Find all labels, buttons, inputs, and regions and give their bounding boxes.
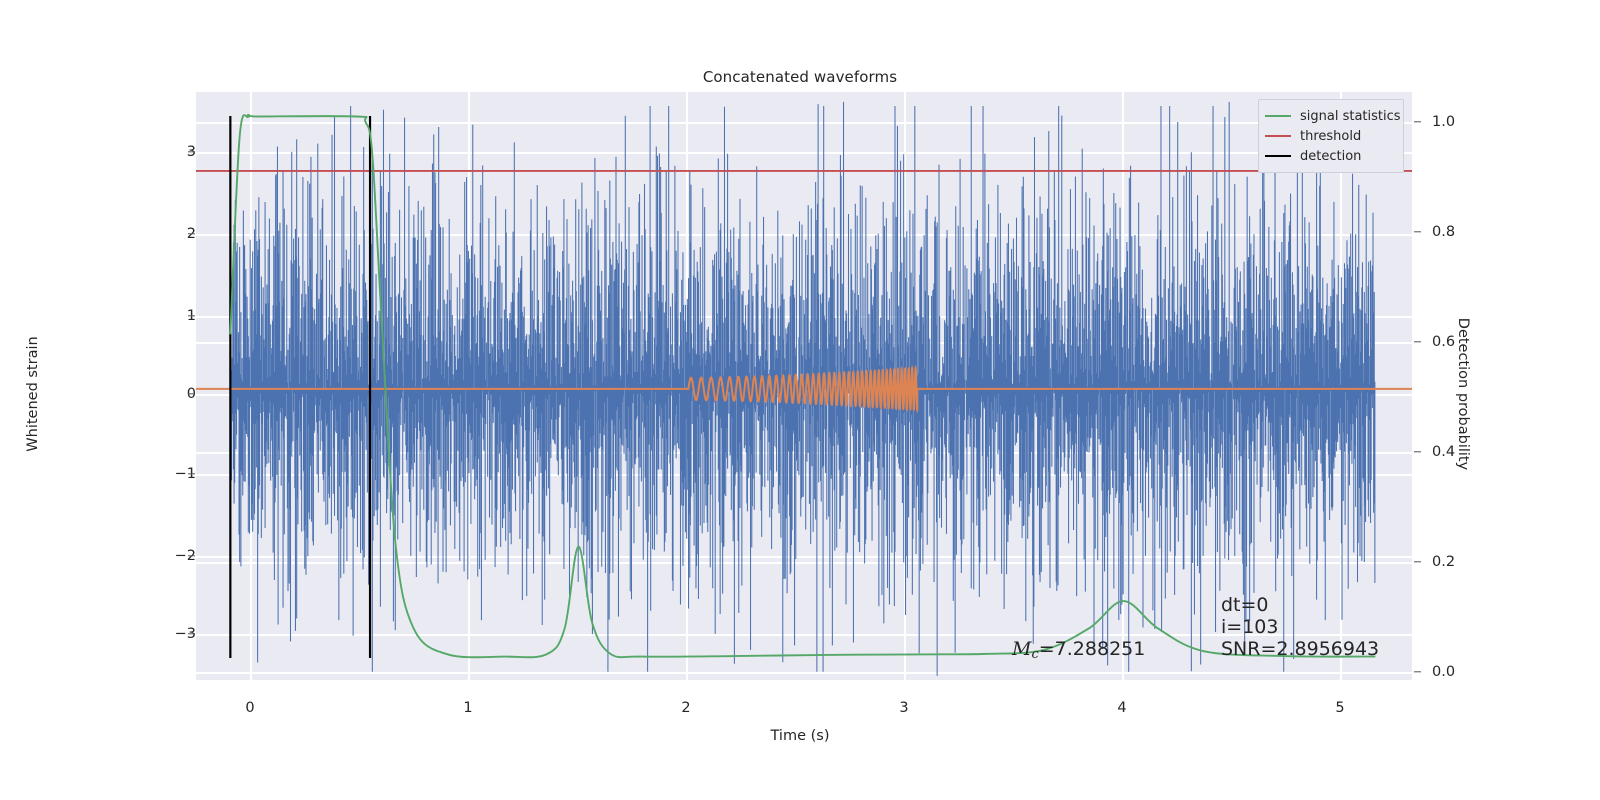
ytick-left-6: −3 [136, 626, 196, 642]
legend-item-threshold: threshold [1265, 126, 1395, 146]
ytick-left-1: 2 [136, 226, 196, 242]
legend-swatch-icon [1265, 155, 1291, 157]
annotation-dt: dt=0 [1221, 594, 1269, 616]
legend-swatch-icon [1265, 135, 1291, 137]
xtick-2: 2 [656, 700, 716, 716]
xtick-4: 4 [1092, 700, 1152, 716]
ytick-left-2: 1 [136, 308, 196, 324]
ytick-mark-right-5 [1414, 671, 1421, 672]
ytick-mark-left-3 [188, 393, 195, 394]
y-axis-label-left: Whitened strain [25, 194, 41, 594]
ytick-mark-right-0 [1414, 121, 1421, 122]
legend: signal statistics threshold detection [1258, 99, 1404, 173]
legend-swatch-icon [1265, 115, 1291, 117]
plot-svg [196, 92, 1412, 680]
ytick-right-0: 1.0 [1432, 114, 1492, 130]
legend-item-signal-statistics: signal statistics [1265, 106, 1395, 126]
annotation-snr: SNR=2.8956943 [1221, 638, 1379, 660]
plot-area [196, 92, 1412, 680]
ytick-mark-left-4 [188, 473, 195, 474]
matplotlib-figure: Concatenated waveforms 3 2 1 0 −1 −2 −3 … [0, 0, 1600, 800]
mc-value: =7.288251 [1039, 638, 1146, 660]
ytick-mark-left-2 [188, 315, 195, 316]
ytick-mark-left-5 [188, 555, 195, 556]
ytick-left-0: 3 [136, 144, 196, 160]
annotation-index: i=103 [1221, 616, 1278, 638]
mc-symbol: M [1012, 638, 1031, 660]
ytick-mark-right-3 [1414, 451, 1421, 452]
ytick-mark-left-1 [188, 233, 195, 234]
x-axis-label: Time (s) [0, 728, 1600, 744]
legend-item-detection: detection [1265, 146, 1395, 166]
y-axis-label-right: Detection probability [1455, 194, 1471, 594]
ytick-left-4: −1 [136, 466, 196, 482]
xtick-0: 0 [220, 700, 280, 716]
xtick-3: 3 [874, 700, 934, 716]
ytick-right-5: 0.0 [1432, 664, 1492, 680]
ytick-left-3: 0 [136, 386, 196, 402]
ytick-mark-right-2 [1414, 341, 1421, 342]
legend-label: signal statistics [1300, 109, 1401, 124]
legend-label: threshold [1300, 129, 1361, 144]
xtick-5: 5 [1310, 700, 1370, 716]
ytick-mark-left-0 [188, 151, 195, 152]
ytick-left-5: −2 [136, 548, 196, 564]
ytick-mark-left-6 [188, 633, 195, 634]
ytick-mark-right-1 [1414, 231, 1421, 232]
legend-label: detection [1300, 149, 1361, 164]
annotation-chirp-mass: Mc=7.288251 [1012, 638, 1145, 662]
ytick-mark-right-4 [1414, 561, 1421, 562]
mc-subscript: c [1031, 647, 1038, 662]
xtick-1: 1 [438, 700, 498, 716]
chart-title: Concatenated waveforms [0, 68, 1600, 86]
